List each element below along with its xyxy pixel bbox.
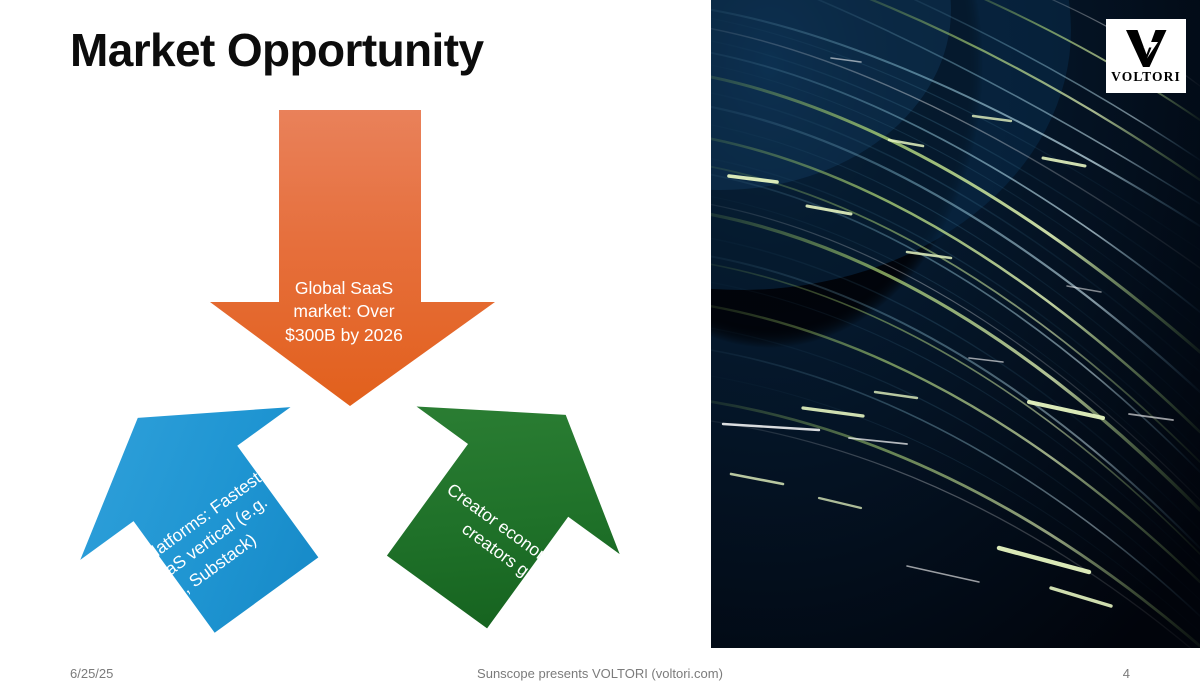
slide-canvas: Market Opportunity bbox=[0, 0, 1200, 700]
voltori-logo: VOLTORI bbox=[1106, 19, 1186, 93]
page-title: Market Opportunity bbox=[70, 24, 483, 77]
decorative-photo bbox=[711, 0, 1200, 648]
logo-wordmark: VOLTORI bbox=[1111, 70, 1181, 84]
arrow-blue-shape bbox=[33, 342, 372, 672]
slide-footer: 6/25/25 Sunscope presents VOLTORI (volto… bbox=[0, 666, 1200, 686]
arrow-orange-shape bbox=[210, 110, 495, 406]
footer-page-number: 4 bbox=[1123, 666, 1130, 681]
voltori-v-lightning-mark bbox=[1125, 28, 1167, 69]
arrow-diagram: Global SaaS market: Over $300B by 2026 C… bbox=[0, 95, 700, 640]
arrow-green-shape bbox=[335, 341, 667, 666]
footer-center-text: Sunscope presents VOLTORI (voltori.com) bbox=[0, 666, 1200, 681]
